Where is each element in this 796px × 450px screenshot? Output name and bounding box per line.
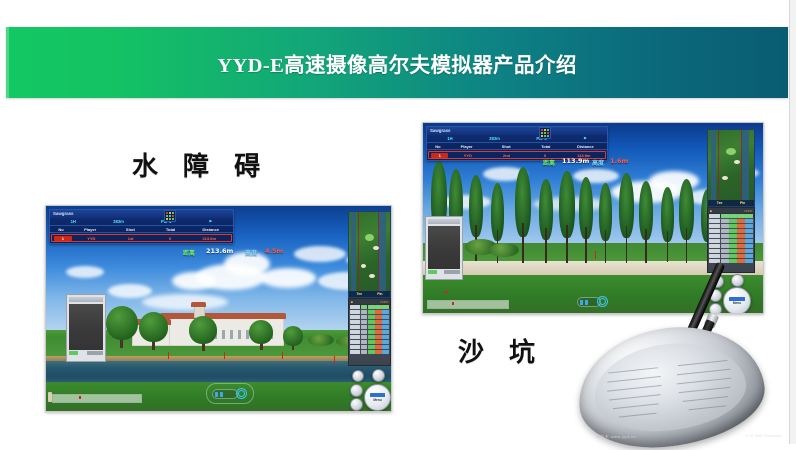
screenshot-water-hazard: Sawgrass 1H 383m Par 4 ⚑ No Player Shot … xyxy=(45,205,392,412)
face-groove xyxy=(619,413,657,418)
watermark-right: YYD Golf Simulator xyxy=(745,434,782,438)
minimap-water xyxy=(379,212,386,297)
scorecard-row xyxy=(708,248,754,253)
sound-button[interactable] xyxy=(350,398,363,411)
tree xyxy=(139,312,168,342)
scorecard-panel[interactable]: ■□□□□ xyxy=(348,298,391,366)
shot-origin-marker xyxy=(445,291,448,293)
scorecard-row xyxy=(349,319,390,324)
pine-tree xyxy=(661,187,674,261)
hud-status-indicator-grid[interactable] xyxy=(164,210,176,222)
camera-panel-title xyxy=(69,297,103,302)
face-groove xyxy=(613,403,659,409)
camera-feed xyxy=(69,304,103,350)
distance-value: 213.6m xyxy=(206,247,233,255)
hud-table-row[interactable]: 1 YYD 1st 0 213.6m xyxy=(51,234,232,242)
title-banner: YYD-E高速摄像高尔夫模拟器产品介绍 xyxy=(6,27,788,98)
scorecard-row xyxy=(708,253,754,258)
hud-hole-info: 1H 383m Par 4 ⚑ xyxy=(427,135,607,142)
hud-col-no: No xyxy=(52,227,70,232)
hud-cell-distance: 213.6m xyxy=(190,236,229,241)
scorecard-row xyxy=(349,349,390,354)
face-groove xyxy=(683,396,729,402)
face-groove xyxy=(679,387,731,393)
pine-tree xyxy=(579,177,593,261)
hud-table-header: No Player Shot Total Distance xyxy=(427,142,607,150)
hud-cell-player: YYD xyxy=(72,236,111,241)
scorecard-row xyxy=(349,314,390,319)
slide-canvas: YYD-E高速摄像高尔夫模拟器产品介绍 水 障 碍 xyxy=(0,0,796,450)
hud-hole: 1H xyxy=(447,136,452,141)
minimap-bunker xyxy=(373,246,379,250)
course-marker xyxy=(595,251,596,259)
slide-top-margin xyxy=(0,0,796,22)
cloud xyxy=(260,268,316,288)
minimap-water xyxy=(351,212,356,297)
hud-scoreboard[interactable]: Sawgrass 1H 383m Par 4 ⚑ No Player Shot … xyxy=(426,126,608,161)
face-groove xyxy=(607,385,662,392)
hud-col-total: Total xyxy=(526,144,566,149)
camera-view-panel[interactable] xyxy=(425,216,463,280)
hud-status-indicator-grid[interactable] xyxy=(539,127,551,139)
hud-cell-shot: 1st xyxy=(111,236,150,241)
scorecard-row xyxy=(708,238,754,243)
watermark-left: 高尔夫 www.yyd.cn xyxy=(596,434,636,440)
menu-icon xyxy=(370,393,385,397)
minimap-green xyxy=(365,234,374,241)
clubhouse-tower-roof xyxy=(191,302,206,307)
club-head xyxy=(572,319,769,450)
course-marker xyxy=(168,352,169,359)
minimap-boundary xyxy=(718,130,719,206)
cloud xyxy=(172,272,216,290)
minimap-boundary xyxy=(358,212,359,297)
cloud xyxy=(66,266,104,278)
hud-col-player: Player xyxy=(70,227,110,232)
height-value: 1.6m xyxy=(610,157,628,165)
swing-path-bar xyxy=(427,300,509,309)
height-label: 高度 xyxy=(245,248,257,257)
minimap-water xyxy=(742,130,749,206)
camera-panel-title xyxy=(428,219,460,224)
hud-col-no: No xyxy=(429,144,447,149)
player-button[interactable] xyxy=(352,370,364,382)
face-groove xyxy=(688,405,726,410)
minimap-green xyxy=(726,148,736,155)
course-marker xyxy=(224,352,225,359)
minimap-boundary xyxy=(378,212,379,297)
clubhouse-window xyxy=(238,330,241,339)
club-select-button[interactable] xyxy=(372,369,385,382)
course-marker xyxy=(334,356,335,364)
height-value: 4.5m xyxy=(265,247,283,255)
scorecard-row xyxy=(349,339,390,344)
hud-col-total: Total xyxy=(150,227,190,232)
face-groove xyxy=(607,376,661,383)
camera-view-panel[interactable] xyxy=(66,294,106,362)
height-label: 高度 xyxy=(592,158,604,167)
pine-tree xyxy=(599,183,612,261)
minimap-tee-label: Tee xyxy=(357,292,363,296)
scorecard-row xyxy=(708,243,754,248)
hole-minimap[interactable]: Tee Pin xyxy=(707,129,755,207)
hud-cell-player: YYD xyxy=(448,153,487,158)
scorecard-row xyxy=(708,223,754,228)
scorecard-row xyxy=(349,344,390,349)
club-face xyxy=(590,336,750,437)
hud-cell-no: 1 xyxy=(431,153,448,158)
page-title: YYD-E高速摄像高尔夫模拟器产品介绍 xyxy=(217,48,577,78)
pine-tree xyxy=(639,181,653,261)
minimap-bunker xyxy=(722,176,728,180)
scorecard-row xyxy=(708,233,754,238)
hud-scoreboard[interactable]: Sawgrass 1H 383m Par 4 ⚑ No Player Shot … xyxy=(49,209,234,244)
bush xyxy=(489,243,519,257)
hud-flag-icon: ⚑ xyxy=(208,219,212,224)
scorecard-row xyxy=(708,218,754,223)
hud-hole-info: 1H 383m Par 4 ⚑ xyxy=(50,218,233,225)
scorecard-row xyxy=(349,329,390,334)
scorecard-header xyxy=(708,213,754,218)
minimap-bunker xyxy=(734,160,740,164)
hud-flag-icon: ⚑ xyxy=(583,136,587,141)
hud-col-shot: Shot xyxy=(486,144,526,149)
camera-panel-status xyxy=(69,351,103,355)
clubhouse-roof xyxy=(160,313,286,319)
course-marker xyxy=(282,352,283,359)
cloud xyxy=(108,284,152,298)
hud-course-name: Sawgrass xyxy=(427,127,607,135)
camera-feed xyxy=(428,226,460,269)
minimap-legend: Tee Pin xyxy=(349,291,390,297)
minimap-bunker xyxy=(369,274,375,278)
minimap-tee-label: Tee xyxy=(717,201,723,205)
pine-tree xyxy=(559,171,575,261)
face-groove xyxy=(608,367,658,373)
minimap-pin-label: Pin xyxy=(740,201,745,205)
minimap-boundary xyxy=(741,130,742,206)
pine-tree xyxy=(619,173,634,261)
hole-minimap[interactable]: Tee Pin xyxy=(348,211,391,298)
tree xyxy=(106,306,138,340)
pine-tree xyxy=(679,179,694,261)
water-hazard-pond xyxy=(46,361,391,383)
minimap-pin-label: Pin xyxy=(377,292,382,296)
pine-tree xyxy=(539,179,553,261)
hud-yardage: 383m xyxy=(489,136,500,141)
face-groove xyxy=(609,394,661,400)
scorecard-row xyxy=(349,334,390,339)
hud-col-distance: Distance xyxy=(191,227,231,232)
tree xyxy=(249,320,273,344)
bush xyxy=(308,334,334,346)
tee-marker xyxy=(48,392,52,402)
hud-col-distance: Distance xyxy=(566,144,606,149)
section-label-sand-bunker: 沙 坑 xyxy=(458,332,543,369)
menu-button[interactable]: Menu xyxy=(364,384,391,411)
hud-hole: 1H xyxy=(71,219,76,224)
slide-left-margin xyxy=(0,0,4,450)
scorecard-row xyxy=(349,309,390,314)
golf-driver-image xyxy=(556,262,796,450)
swing-path-bar xyxy=(52,394,142,403)
minimap-legend: Tee Pin xyxy=(708,200,754,206)
distance-label: 距离 xyxy=(543,158,555,167)
cloud xyxy=(294,246,346,262)
clubhouse-window xyxy=(230,330,233,339)
section-label-water-hazard: 水 障 碍 xyxy=(132,146,268,183)
tree xyxy=(189,316,217,344)
hud-cell-no: 1 xyxy=(54,236,72,241)
face-groove xyxy=(677,369,731,376)
tree xyxy=(283,326,303,346)
hud-table-header: No Player Shot Total Distance xyxy=(50,225,233,233)
controls-group-ring xyxy=(206,383,254,404)
cloud xyxy=(142,294,228,310)
distance-value: 113.9m xyxy=(562,157,589,165)
camera-panel-status xyxy=(428,270,460,274)
hud-yardage: 383m xyxy=(113,219,124,224)
hud-cell-total: 0 xyxy=(150,236,189,241)
menu-button-label: Menu xyxy=(373,398,381,402)
hud-cell-shot: 2nd xyxy=(487,153,526,158)
scorecard-header xyxy=(349,304,390,309)
face-groove xyxy=(678,360,728,366)
view-button[interactable] xyxy=(350,384,363,397)
hud-col-shot: Shot xyxy=(110,227,150,232)
scorecard-row xyxy=(708,228,754,233)
scorecard-row xyxy=(349,324,390,329)
hud-cell-total: 0 xyxy=(526,153,565,158)
hud-course-name: Sawgrass xyxy=(50,210,233,218)
minimap-bunker xyxy=(361,264,366,268)
minimap-water xyxy=(711,130,716,206)
distance-label: 距离 xyxy=(183,248,195,257)
face-groove xyxy=(677,378,732,385)
hud-col-player: Player xyxy=(447,144,487,149)
clubhouse-window xyxy=(222,330,225,339)
